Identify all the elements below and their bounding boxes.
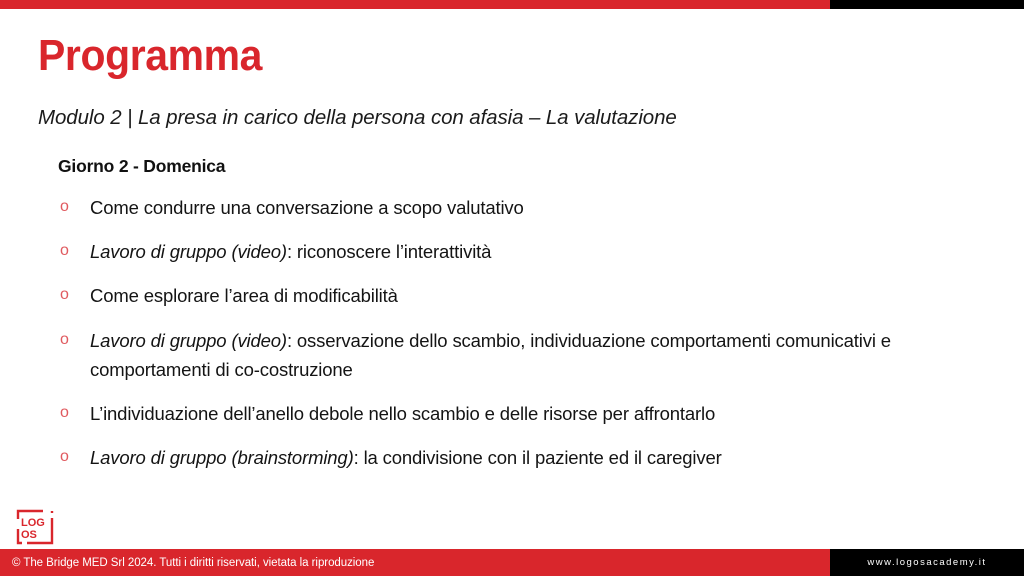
list-item-text: Come condurre una conversazione a scopo …	[90, 197, 524, 218]
list-item-lead: Lavoro di gruppo (brainstorming)	[90, 447, 354, 468]
footer-copyright-band: © The Bridge MED Srl 2024. Tutti i dirit…	[0, 549, 830, 576]
page-subtitle: Modulo 2 | La presa in carico della pers…	[38, 106, 677, 130]
bullet-circle-icon: o	[60, 237, 78, 265]
footer-bar: © The Bridge MED Srl 2024. Tutti i dirit…	[0, 549, 1024, 576]
bullet-circle-icon: o	[60, 193, 78, 221]
program-bullet-list: oCome condurre una conversazione a scopo…	[58, 193, 988, 473]
bullet-circle-icon: o	[60, 326, 78, 354]
footer-copyright-text: © The Bridge MED Srl 2024. Tutti i dirit…	[0, 557, 374, 569]
page-title: Programma	[38, 34, 262, 78]
list-item-lead: Lavoro di gruppo (video)	[90, 330, 287, 351]
list-item-text: : la condivisione con il paziente ed il …	[354, 447, 722, 468]
list-item: oL’individuazione dell’anello debole nel…	[58, 399, 988, 428]
top-accent-bar-red	[0, 0, 830, 9]
day-heading: Giorno 2 - Domenica	[58, 156, 988, 177]
list-item-text: : riconoscere l’interattività	[287, 241, 491, 262]
list-item: oLavoro di gruppo (video): osservazione …	[58, 326, 988, 384]
bullet-circle-icon: o	[60, 281, 78, 309]
list-item-text: L’individuazione dell’anello debole nell…	[90, 403, 715, 424]
slide-canvas: Programma Modulo 2 | La presa in carico …	[0, 0, 1024, 576]
list-item-lead: Lavoro di gruppo (video)	[90, 241, 287, 262]
footer-website-band: www.logosacademy.it	[830, 549, 1024, 576]
list-item: oCome esplorare l’area di modificabilità	[58, 281, 988, 310]
list-item-text: Come esplorare l’area di modificabilità	[90, 285, 398, 306]
logos-logo: LOG OS	[16, 509, 54, 545]
list-item: oCome condurre una conversazione a scopo…	[58, 193, 988, 222]
top-accent-bar	[0, 0, 1024, 9]
logo-text-line1: LOG	[21, 517, 45, 529]
content-block: Giorno 2 - Domenica oCome condurre una c…	[58, 156, 988, 473]
top-accent-bar-black	[830, 0, 1024, 9]
bullet-circle-icon: o	[60, 399, 78, 427]
list-item: oLavoro di gruppo (brainstorming): la co…	[58, 443, 988, 472]
footer-website-text: www.logosacademy.it	[867, 557, 986, 568]
logo-text-line2: OS	[21, 529, 37, 541]
bullet-circle-icon: o	[60, 443, 78, 471]
list-item: oLavoro di gruppo (video): riconoscere l…	[58, 237, 988, 266]
